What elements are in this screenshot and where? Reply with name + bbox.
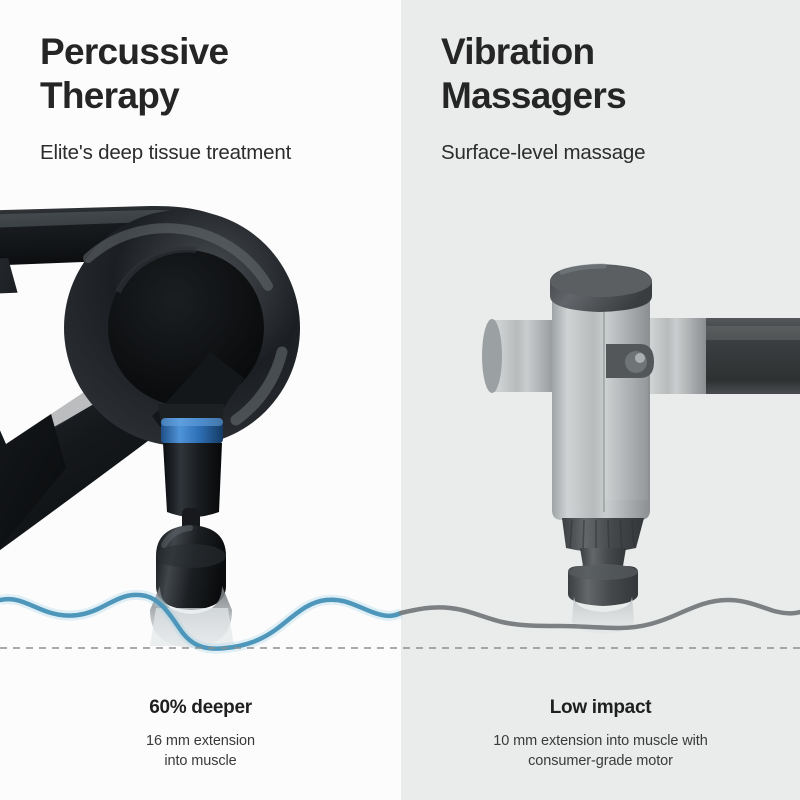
left-caption-title: 60% deeper — [0, 697, 401, 719]
left-panel-title: Percussive Therapy — [40, 30, 291, 118]
power-button[interactable] — [625, 351, 647, 373]
massager-handle-highlight — [700, 326, 800, 340]
gun-shaft — [163, 443, 222, 517]
massager-attachment-top — [568, 564, 638, 580]
gun-attachment-seam — [156, 544, 226, 568]
left-panel-heading-block: Percussive Therapy Elite's deep tissue t… — [40, 30, 291, 166]
right-panel-caption-block: Low impact 10 mm extension into muscle w… — [401, 697, 800, 771]
gun-blue-ring-gloss — [161, 418, 223, 426]
left-panel-subtitle: Elite's deep tissue treatment — [40, 140, 291, 166]
right-caption-title: Low impact — [401, 697, 800, 719]
right-panel-title: Vibration Massagers — [441, 30, 645, 118]
power-button-gloss — [635, 353, 645, 363]
right-panel-subtitle: Surface-level massage — [441, 140, 645, 166]
vibration-massager-illustration — [482, 264, 800, 634]
left-caption-subtitle: 16 mm extension into muscle — [0, 731, 401, 771]
comparison-infographic: Percussive Therapy Elite's deep tissue t… — [0, 0, 800, 800]
left-panel-caption-block: 60% deeper 16 mm extension into muscle — [0, 697, 401, 771]
right-panel-heading-block: Vibration Massagers Surface-level massag… — [441, 30, 645, 166]
massager-left-stub-cap — [482, 319, 502, 393]
right-caption-subtitle: 10 mm extension into muscle with consume… — [401, 731, 800, 771]
percussive-massage-gun-illustration — [0, 206, 300, 648]
